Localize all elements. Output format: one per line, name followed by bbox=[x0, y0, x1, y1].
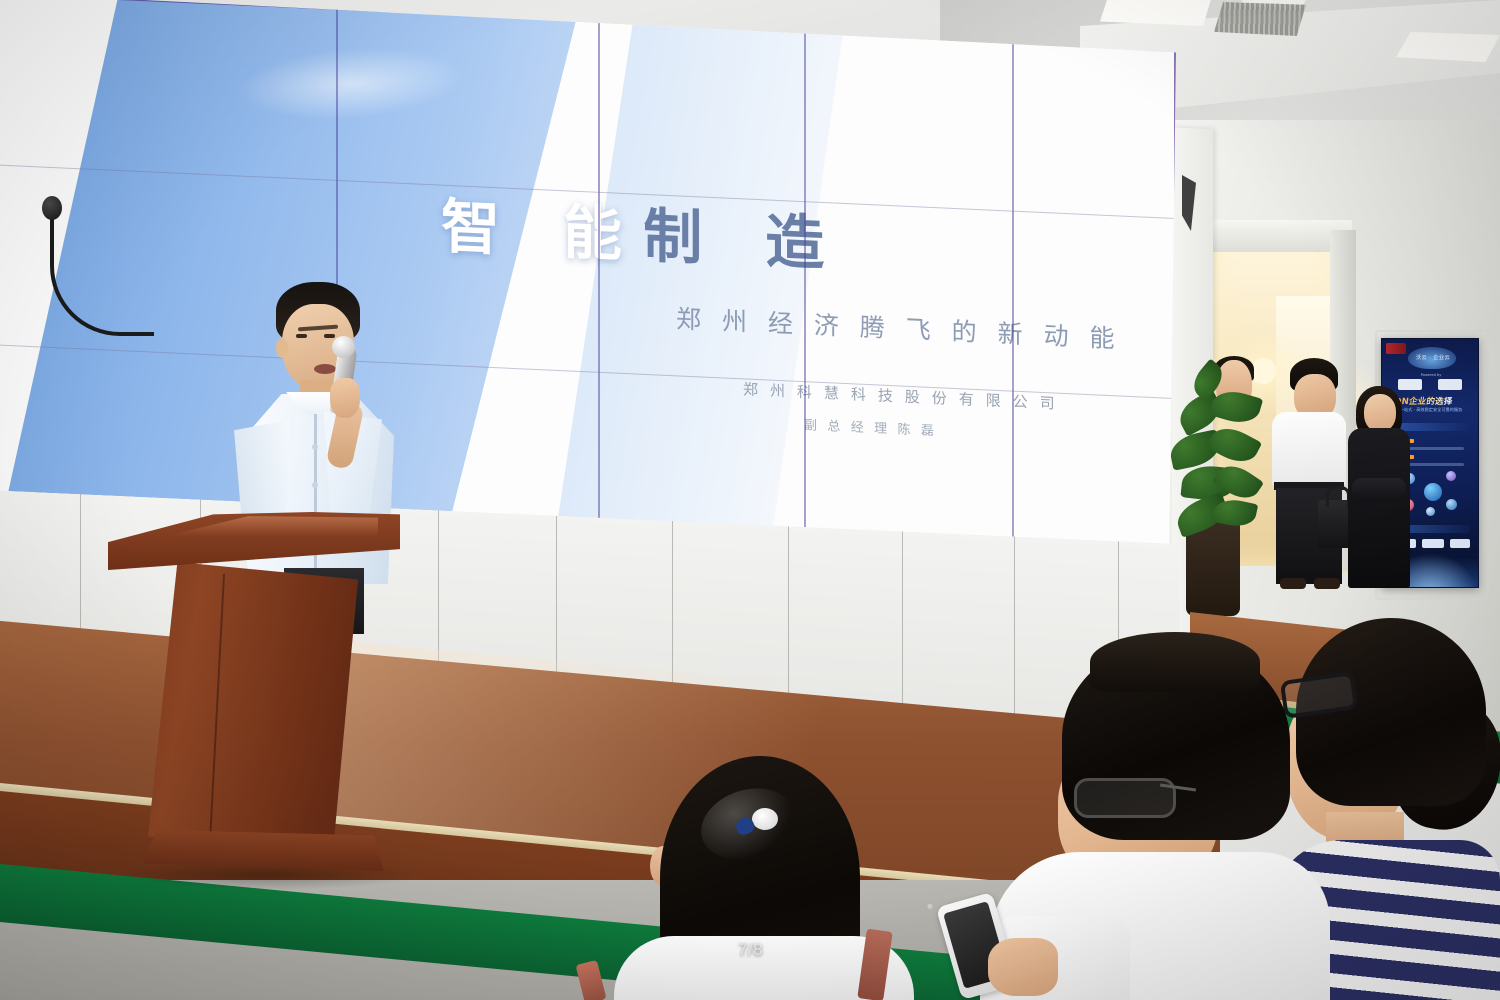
handbag bbox=[1318, 500, 1352, 548]
slide-text-block: 智 能制 造 郑 州 经 济 腾 飞 的 新 动 能 郑 州 科 慧 科 技 股… bbox=[0, 0, 1176, 586]
banner-logo bbox=[1386, 343, 1406, 354]
slide-title-dark: 制 造 bbox=[643, 201, 845, 279]
lectern-base bbox=[132, 830, 384, 884]
speaker-mouth bbox=[314, 364, 336, 374]
background-woman-arms bbox=[1352, 478, 1406, 500]
background-man-shoe bbox=[1314, 578, 1340, 589]
background-man-shirt bbox=[1272, 412, 1346, 486]
slide-title-bright: 智 能 bbox=[441, 192, 643, 270]
diagram-node bbox=[1426, 507, 1435, 516]
audience-hand bbox=[988, 938, 1058, 996]
speaker-hand bbox=[330, 378, 360, 418]
banner-subheadline: 一站式 · 高效稳定安全可靠的服务 bbox=[1392, 407, 1470, 413]
video-wall-bezel-seam bbox=[598, 20, 600, 560]
handbag-handle bbox=[1326, 486, 1350, 507]
speaker-shirt-button bbox=[312, 482, 318, 488]
lectern bbox=[108, 512, 400, 884]
slide-organization: 郑 州 科 慧 科 技 股 份 有 限 公 司 bbox=[743, 378, 1058, 413]
ceiling-vent bbox=[1214, 2, 1306, 36]
slide-subtitle: 郑 州 经 济 腾 飞 的 新 动 能 bbox=[676, 299, 1121, 355]
diagram-node bbox=[1446, 499, 1457, 510]
banner-partner-chip bbox=[1438, 379, 1462, 390]
banner-partner-chip bbox=[1398, 379, 1422, 390]
speaker-shirt-button bbox=[312, 444, 318, 450]
banner-cloud-label: 沃云 · 企业云 bbox=[1412, 354, 1454, 361]
video-wall-bezel-seam bbox=[1012, 39, 1014, 579]
plant-pot bbox=[1186, 520, 1240, 616]
hair-clip bbox=[752, 808, 778, 830]
ceiling-light-panel bbox=[1100, 0, 1212, 26]
background-man-shoe bbox=[1280, 578, 1306, 589]
speaker-eye bbox=[296, 334, 307, 338]
speaker-ear bbox=[276, 338, 288, 358]
lectern-body bbox=[148, 562, 358, 854]
photo-scene: 沃云 · 企业云 Powered by CDN企业的选择 一站式 · 高效稳定安… bbox=[0, 0, 1500, 1000]
background-woman-dress bbox=[1348, 428, 1410, 588]
banner-powered-by: Powered by bbox=[1410, 373, 1452, 377]
slide-presenter: 副 总 经 理 陈 磊 bbox=[804, 414, 937, 439]
podium-microphone bbox=[42, 196, 62, 220]
ceiling-light-panel bbox=[1396, 32, 1500, 62]
network-diagram-graphic bbox=[1402, 469, 1460, 517]
diagram-node bbox=[1446, 471, 1456, 481]
slide-title: 智 能制 造 bbox=[441, 179, 1061, 292]
banner-partner-chip bbox=[1450, 539, 1470, 548]
video-wall-display[interactable]: 智 能制 造 郑 州 经 济 腾 飞 的 新 动 能 郑 州 科 慧 科 技 股… bbox=[0, 0, 1176, 586]
audience-hair-top bbox=[1090, 632, 1260, 692]
background-woman-head bbox=[1364, 394, 1396, 432]
banner-partner-chip bbox=[1422, 539, 1444, 548]
page-indicator: 7/8 bbox=[738, 940, 763, 960]
speaker-eye bbox=[324, 334, 335, 338]
video-wall-screen: 智 能制 造 郑 州 经 济 腾 飞 的 新 动 能 郑 州 科 慧 科 技 股… bbox=[0, 0, 1176, 586]
diagram-node bbox=[1424, 483, 1442, 501]
video-wall-bezel-seam bbox=[804, 29, 806, 569]
